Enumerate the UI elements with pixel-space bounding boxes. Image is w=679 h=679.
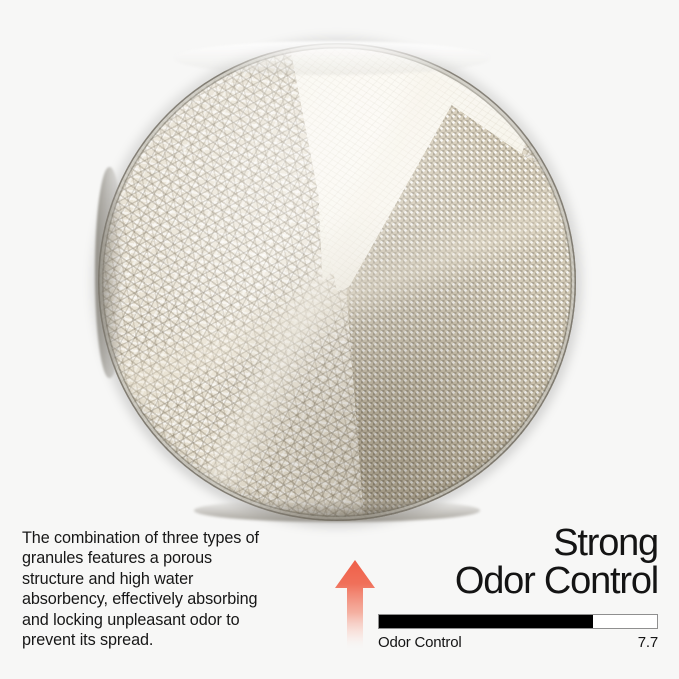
progress-bar-legend: Odor Control 7.7 bbox=[378, 634, 658, 651]
rating-headline: Strong Odor Control bbox=[378, 524, 658, 600]
headline-line-2: Odor Control bbox=[378, 562, 658, 600]
headline-line-1: Strong bbox=[553, 522, 658, 564]
metric-label: Odor Control bbox=[378, 634, 461, 651]
product-description: The combination of three types of granul… bbox=[22, 528, 272, 650]
odor-control-rating-block: Strong Odor Control Odor Control 7.7 bbox=[378, 524, 658, 651]
up-arrow-icon bbox=[333, 559, 377, 651]
product-photo bbox=[98, 43, 576, 521]
odor-control-progress-bar bbox=[378, 614, 658, 629]
progress-bar-fill bbox=[379, 615, 593, 628]
metric-score: 7.7 bbox=[638, 634, 658, 651]
glass-dish bbox=[98, 43, 576, 521]
